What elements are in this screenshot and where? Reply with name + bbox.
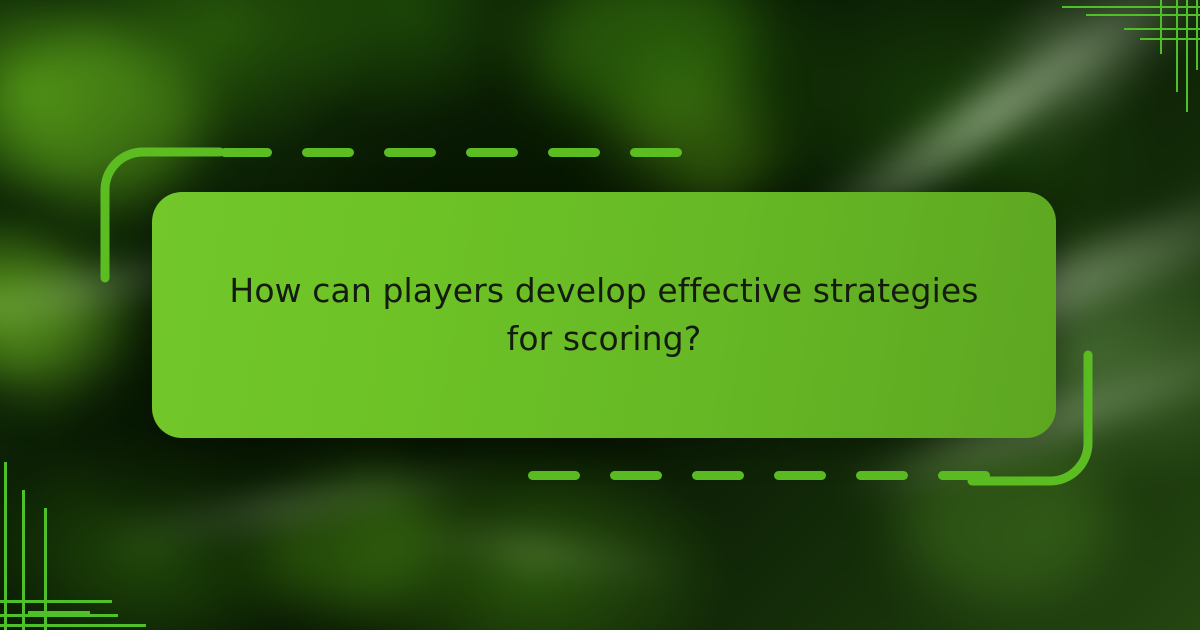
poster-canvas: How can players develop effective strate…: [0, 0, 1200, 630]
question-text: How can players develop effective strate…: [209, 267, 999, 363]
question-card: How can players develop effective strate…: [152, 192, 1056, 438]
